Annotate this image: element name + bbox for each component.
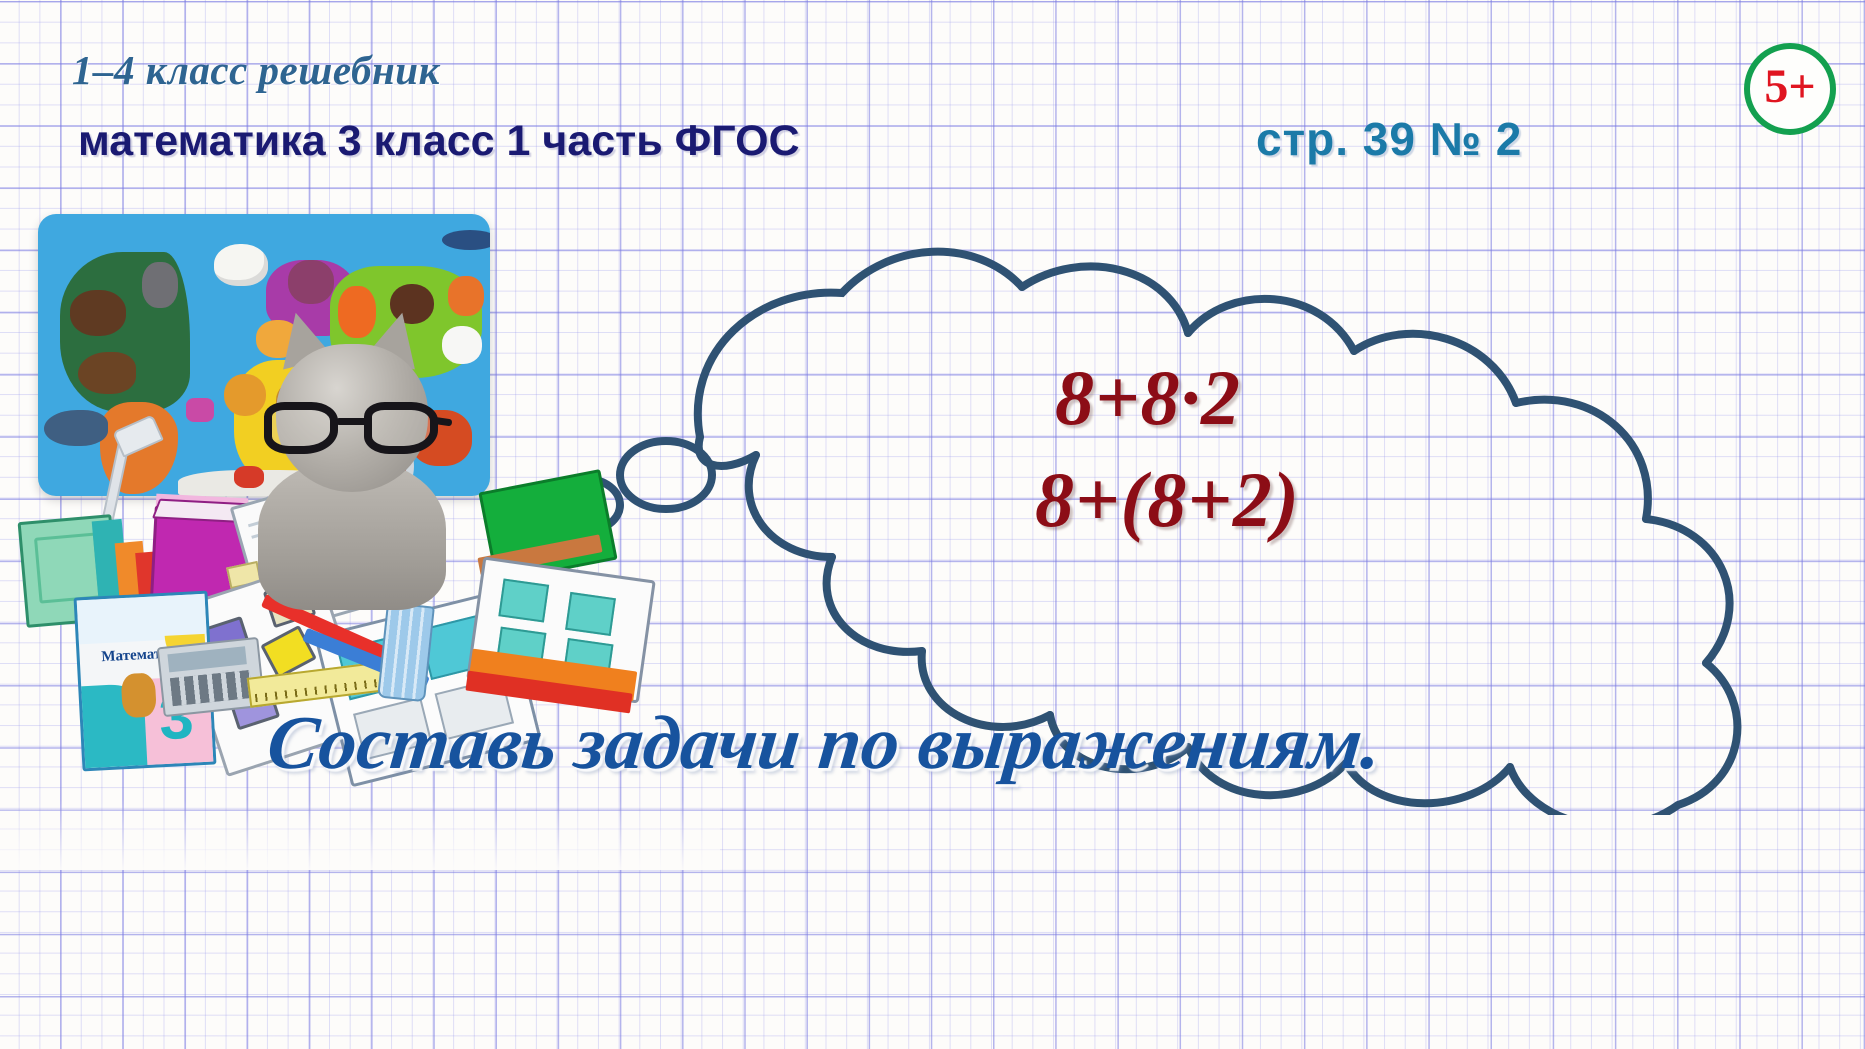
whale-icon (44, 410, 108, 446)
book-panel (498, 579, 549, 623)
calculator-screen (167, 646, 246, 672)
collage-fade (0, 800, 720, 870)
pencil-cup-icon (377, 602, 435, 702)
page-reference: стр. 39 № 2 (1256, 112, 1522, 166)
series-label: 1–4 класс решебник (72, 46, 440, 94)
polar-bear-icon (214, 244, 268, 286)
age-rating-label: 5+ (1764, 63, 1815, 111)
book-cover-frame (34, 533, 102, 604)
cat-with-glasses (252, 310, 452, 600)
raccoon-icon (142, 262, 178, 308)
glasses-lens-left (264, 402, 338, 454)
starfish-icon (186, 398, 214, 422)
bison-icon (288, 260, 334, 304)
page-title: математика 3 класс 1 часть ФГОС (78, 117, 800, 166)
submarine-icon (442, 230, 490, 250)
book-panel (565, 592, 616, 636)
calculator-keys (170, 670, 252, 706)
bear-mascot-icon (121, 672, 157, 718)
tiger-icon (448, 276, 484, 316)
eagle-icon (78, 352, 136, 394)
glasses-lens-right (364, 402, 438, 454)
expression-2: 8+(8+2) (1035, 455, 1300, 545)
age-rating-badge: 5+ (1744, 43, 1836, 135)
slide-canvas: 1–4 класс решебник математика 3 класс 1 … (0, 0, 1865, 1049)
eyeglasses-icon (262, 402, 442, 456)
moose-icon (70, 290, 126, 336)
task-caption: Составь задачи по выражениям. (263, 700, 1385, 787)
expression-1: 8+8·2 (1055, 353, 1241, 443)
